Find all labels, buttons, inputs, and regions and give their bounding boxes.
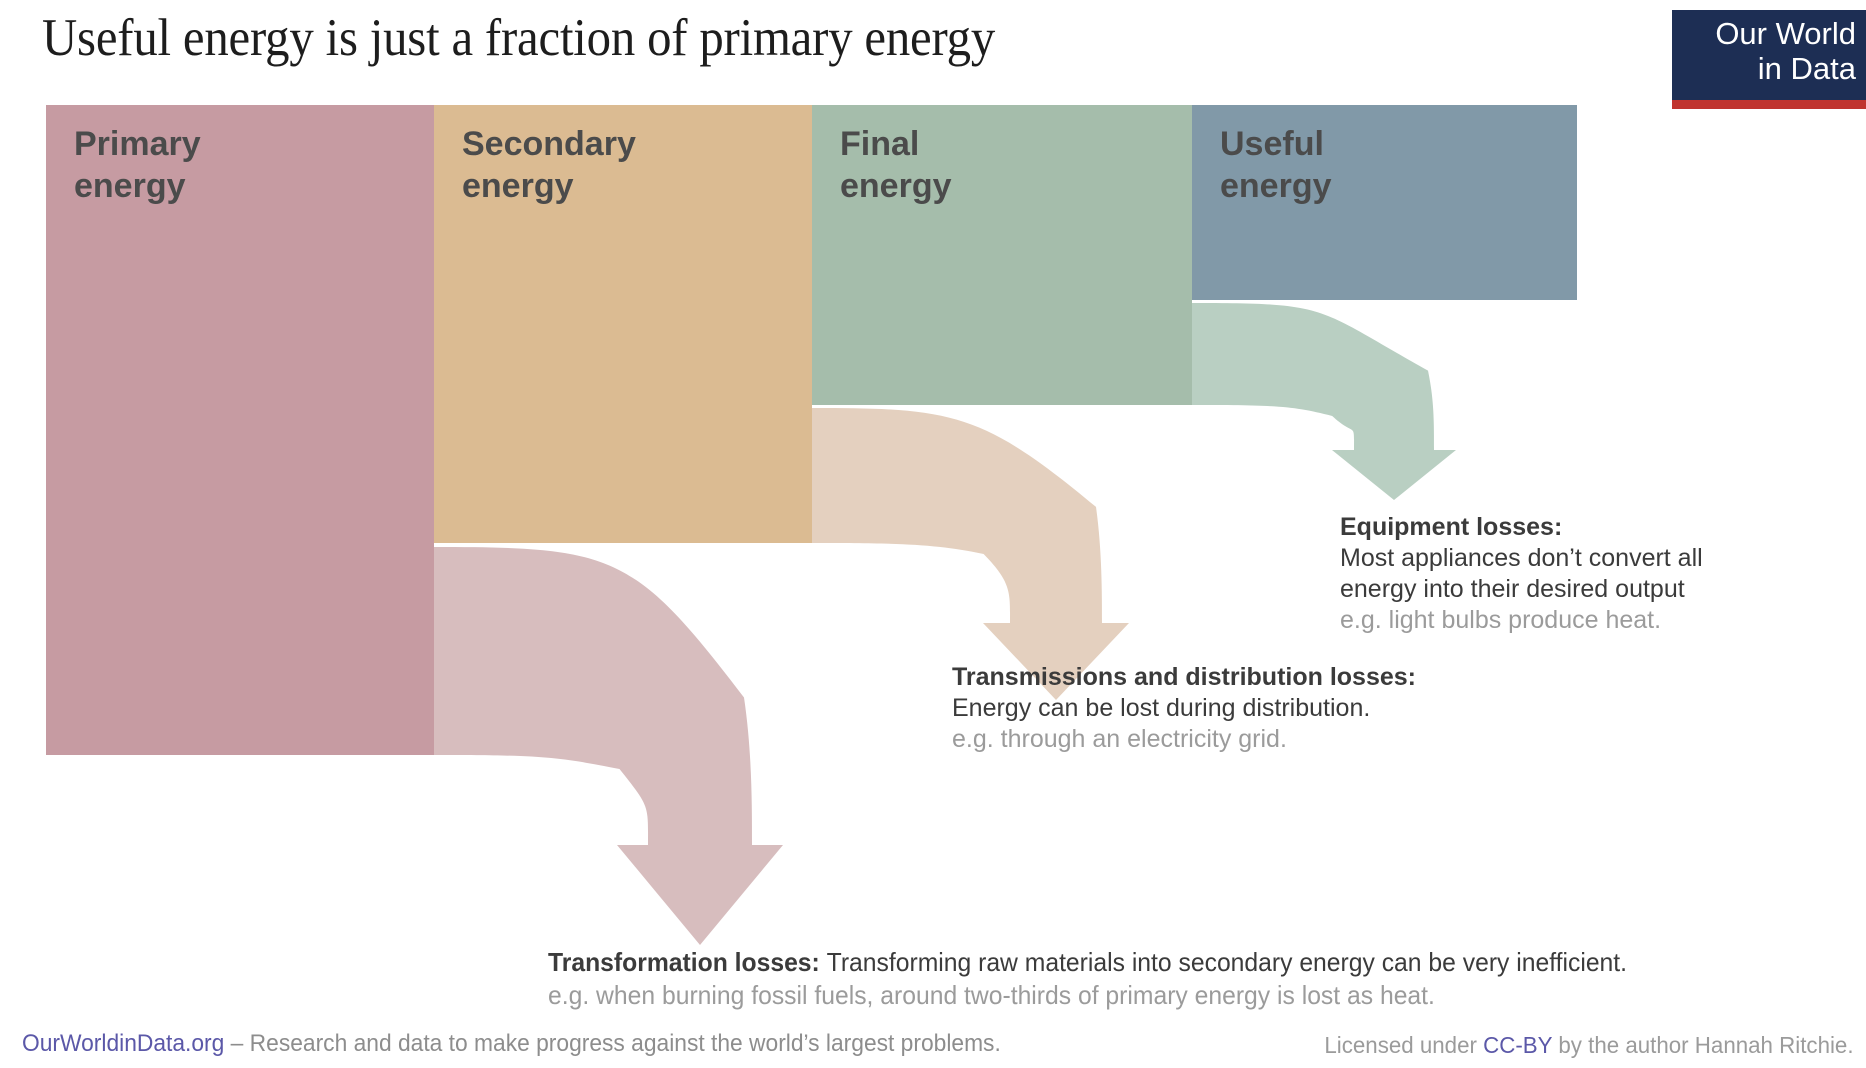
- stage-block-final[interactable]: Final energy: [812, 105, 1192, 405]
- equipment-losses-body-1: Most appliances don’t convert all: [1340, 543, 1703, 574]
- equipment-losses-heading: Equipment losses:: [1340, 512, 1703, 543]
- transmission-losses-example: e.g. through an electricity grid.: [952, 724, 1416, 755]
- stage-label-primary: Primary energy: [74, 123, 201, 207]
- stage-block-secondary[interactable]: Secondary energy: [434, 105, 812, 543]
- annotation-transmission-losses: Transmissions and distribution losses: E…: [952, 662, 1416, 755]
- stage-block-primary[interactable]: Primary energy: [46, 105, 434, 755]
- license-prefix: Licensed under: [1325, 1032, 1484, 1058]
- equipment-losses-body-2: energy into their desired output: [1340, 574, 1703, 605]
- transformation-loss-arrow: [434, 547, 783, 945]
- stage-label-useful: Useful energy: [1220, 123, 1332, 207]
- transmission-losses-heading: Transmissions and distribution losses:: [952, 662, 1416, 693]
- infographic-canvas: Useful energy is just a fraction of prim…: [0, 0, 1866, 1068]
- transformation-losses-heading: Transformation losses:: [548, 947, 820, 977]
- license-suffix: by the author Hannah Ritchie.: [1553, 1032, 1854, 1058]
- stage-label-secondary: Secondary energy: [462, 123, 636, 207]
- footer-license: Licensed under CC-BY by the author Hanna…: [1325, 1032, 1854, 1059]
- owid-site-link[interactable]: OurWorldinData.org: [22, 1030, 224, 1057]
- transformation-losses-example: e.g. when burning fossil fuels, around t…: [548, 979, 1627, 1012]
- transmission-losses-body-1: Energy can be lost during distribution.: [952, 693, 1416, 724]
- footer-tagline: – Research and data to make progress aga…: [224, 1030, 1000, 1057]
- stage-block-useful[interactable]: Useful energy: [1192, 105, 1577, 300]
- transformation-losses-body-1-text: Transforming raw materials into secondar…: [827, 947, 1627, 977]
- cc-by-link[interactable]: CC-BY: [1484, 1032, 1553, 1058]
- equipment-loss-arrow: [1192, 303, 1456, 500]
- footer-attribution: OurWorldinData.org – Research and data t…: [22, 1030, 1001, 1058]
- annotation-equipment-losses: Equipment losses: Most appliances don’t …: [1340, 512, 1703, 636]
- equipment-losses-example: e.g. light bulbs produce heat.: [1340, 605, 1703, 636]
- annotation-transformation-losses: Transformation losses: Transforming raw …: [548, 946, 1684, 1012]
- transmission-loss-arrow: [812, 408, 1129, 700]
- transformation-losses-line-1: Transformation losses: Transforming raw …: [548, 946, 1627, 979]
- stage-label-final: Final energy: [840, 123, 952, 207]
